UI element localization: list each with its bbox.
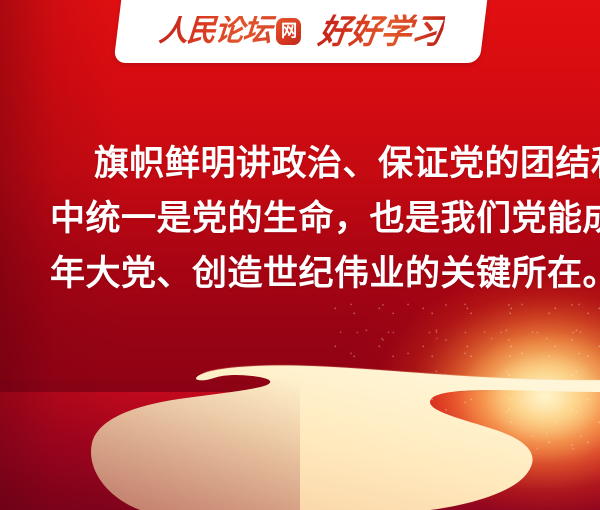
column-title: 好好学习 [316, 14, 445, 48]
net-badge-icon: 网 [276, 18, 301, 45]
brand-logo-text: 人民论坛 [158, 16, 273, 47]
glow-speckle-texture [330, 300, 600, 450]
poster-root: 人民论坛 网 好好学习 旗帜鲜明讲政治、保证党的团结和集 中统一是党的生命，也是… [0, 0, 600, 510]
quote-line-2: 中统一是党的生命，也是我们党能成为百 [44, 191, 556, 246]
quote-line-1: 旗帜鲜明讲政治、保证党的团结和集 [44, 136, 556, 191]
background-bottom-shade [0, 380, 300, 510]
quote-line-3: 年大党、创造世纪伟业的关键所在。 [44, 246, 556, 301]
brand-logo[interactable]: 人民论坛 网 [158, 16, 303, 47]
header-banner-content: 人民论坛 网 好好学习 [118, 0, 484, 63]
quote-block: 旗帜鲜明讲政治、保证党的团结和集 中统一是党的生命，也是我们党能成为百 年大党、… [44, 136, 556, 301]
